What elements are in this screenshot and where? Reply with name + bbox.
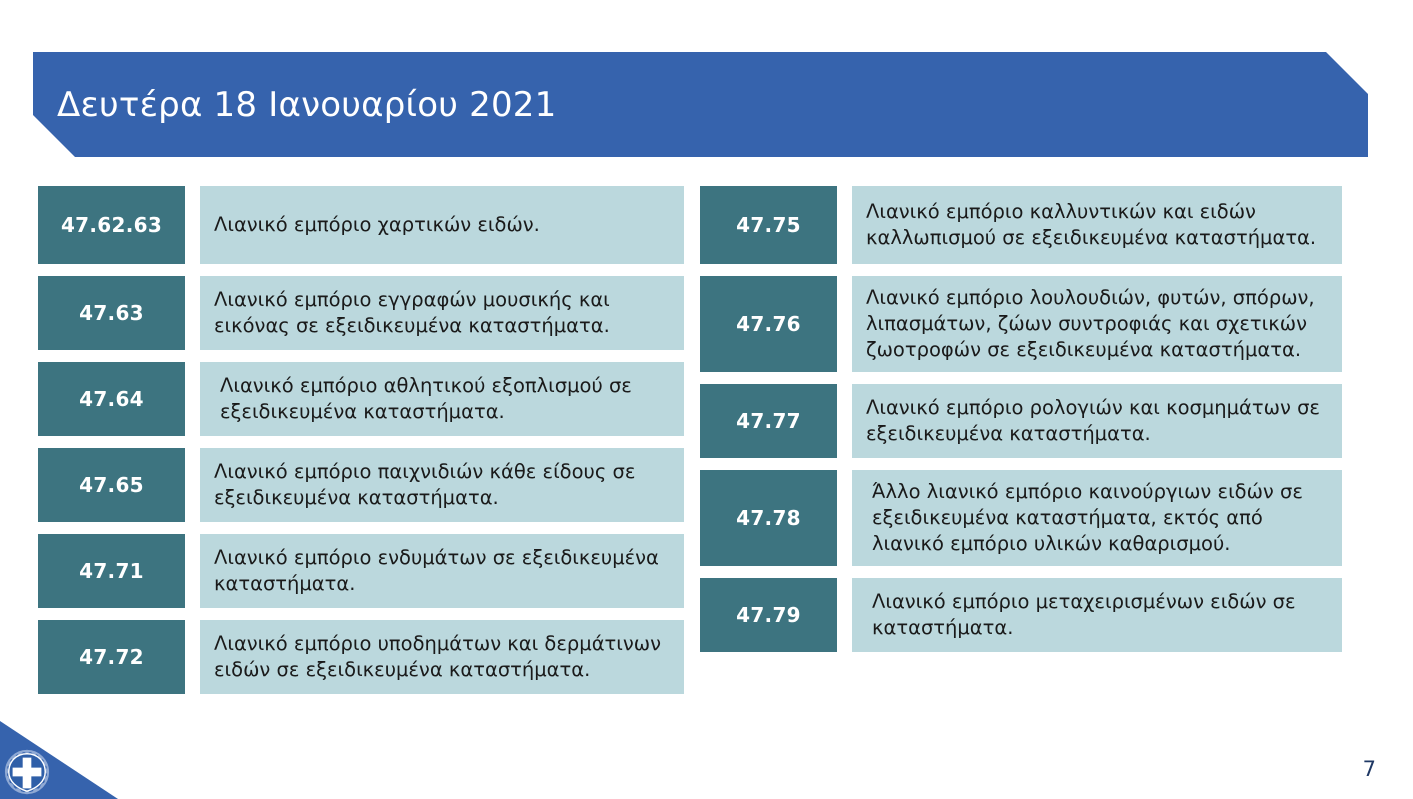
activity-code-badge: 47.78 bbox=[700, 470, 837, 566]
activity-code-badge: 47.71 bbox=[38, 534, 185, 608]
list-item[interactable]: 47.65 Λιανικό εμπόριο παιχνιδιών κάθε εί… bbox=[38, 448, 684, 522]
activity-code-badge: 47.72 bbox=[38, 620, 185, 694]
activity-description: Λιανικό εμπόριο καλλυντικών και ειδών κα… bbox=[852, 186, 1342, 264]
list-item[interactable]: 47.71 Λιανικό εμπόριο ενδυμάτων σε εξειδ… bbox=[38, 534, 684, 608]
gap-divider bbox=[837, 276, 852, 372]
activity-code-badge: 47.64 bbox=[38, 362, 185, 436]
list-item[interactable]: 47.75 Λιανικό εμπόριο καλλυντικών και ει… bbox=[700, 186, 1342, 264]
activity-description: Λιανικό εμπόριο ενδυμάτων σε εξειδικευμέ… bbox=[200, 534, 684, 608]
activity-code-badge: 47.76 bbox=[700, 276, 837, 372]
gap-divider bbox=[837, 384, 852, 458]
list-item[interactable]: 47.63 Λιανικό εμπόριο εγγραφών μουσικής … bbox=[38, 276, 684, 350]
activity-code-badge: 47.63 bbox=[38, 276, 185, 350]
page-title: Δευτέρα 18 Ιανουαρίου 2021 bbox=[57, 85, 556, 125]
gap-divider bbox=[837, 186, 852, 264]
list-item[interactable]: 47.62.63 Λιανικό εμπόριο χαρτικών ειδών. bbox=[38, 186, 684, 264]
gap-divider bbox=[185, 534, 200, 608]
activity-description: Λιανικό εμπόριο εγγραφών μουσικής και ει… bbox=[200, 276, 684, 350]
activity-description: Λιανικό εμπόριο παιχνιδιών κάθε είδους σ… bbox=[200, 448, 684, 522]
activity-description: Λιανικό εμπόριο ρολογιών και κοσμημάτων … bbox=[852, 384, 1342, 458]
left-column: 47.62.63 Λιανικό εμπόριο χαρτικών ειδών.… bbox=[38, 186, 684, 706]
gap-divider bbox=[185, 362, 200, 436]
list-item[interactable]: 47.64 Λιανικό εμπόριο αθλητικού εξοπλισμ… bbox=[38, 362, 684, 436]
gap-divider bbox=[185, 186, 200, 264]
gap-divider bbox=[837, 578, 852, 652]
activity-description: Λιανικό εμπόριο υποδημάτων και δερμάτινω… bbox=[200, 620, 684, 694]
gap-divider bbox=[185, 276, 200, 350]
activity-description: Λιανικό εμπόριο μεταχειρισμένων ειδών σε… bbox=[852, 578, 1342, 652]
list-item[interactable]: 47.72 Λιανικό εμπόριο υποδημάτων και δερ… bbox=[38, 620, 684, 694]
slide-title-banner: Δευτέρα 18 Ιανουαρίου 2021 bbox=[33, 52, 1368, 157]
activity-code-badge: 47.77 bbox=[700, 384, 837, 458]
list-item[interactable]: 47.76 Λιανικό εμπόριο λουλουδιών, φυτών,… bbox=[700, 276, 1342, 372]
activity-description: Άλλο λιανικό εμπόριο καινούργιων ειδών σ… bbox=[852, 470, 1342, 566]
right-column: 47.75 Λιανικό εμπόριο καλλυντικών και ει… bbox=[700, 186, 1342, 664]
page-number: 7 bbox=[1363, 757, 1376, 781]
list-item[interactable]: 47.79 Λιανικό εμπόριο μεταχειρισμένων ει… bbox=[700, 578, 1342, 652]
activity-description: Λιανικό εμπόριο λουλουδιών, φυτών, σπόρω… bbox=[852, 276, 1342, 372]
list-item[interactable]: 47.77 Λιανικό εμπόριο ρολογιών και κοσμη… bbox=[700, 384, 1342, 458]
activity-code-badge: 47.62.63 bbox=[38, 186, 185, 264]
greek-coat-of-arms-icon bbox=[3, 748, 51, 796]
activity-description: Λιανικό εμπόριο χαρτικών ειδών. bbox=[200, 186, 684, 264]
activity-code-badge: 47.65 bbox=[38, 448, 185, 522]
gap-divider bbox=[837, 470, 852, 566]
gap-divider bbox=[185, 620, 200, 694]
activity-code-badge: 47.75 bbox=[700, 186, 837, 264]
gap-divider bbox=[185, 448, 200, 522]
activity-code-badge: 47.79 bbox=[700, 578, 837, 652]
list-item[interactable]: 47.78 Άλλο λιανικό εμπόριο καινούργιων ε… bbox=[700, 470, 1342, 566]
activity-description: Λιανικό εμπόριο αθλητικού εξοπλισμού σε … bbox=[200, 362, 684, 436]
